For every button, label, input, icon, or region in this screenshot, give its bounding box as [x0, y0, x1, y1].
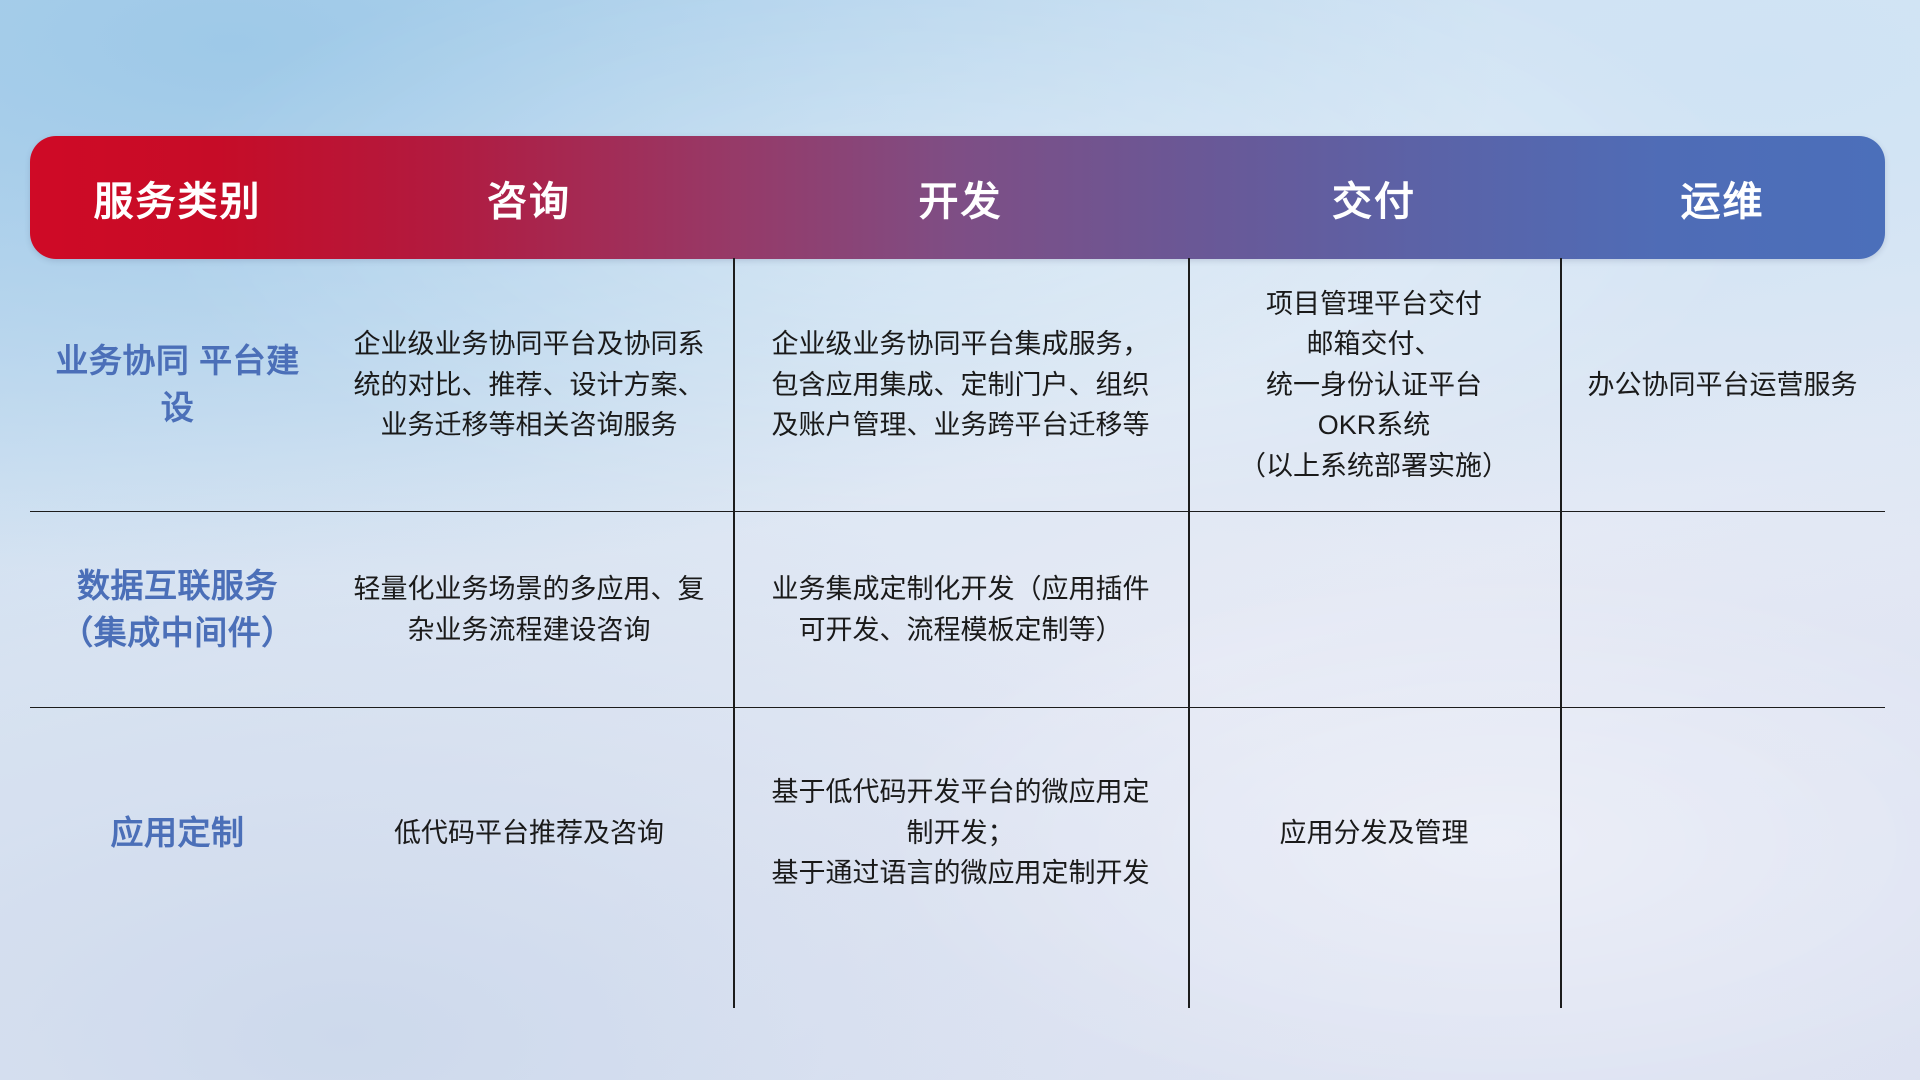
cell-text: 业务集成定制化开发（应用插件 可开发、流程模板定制等） [772, 569, 1150, 650]
header-cell-operations: 运维 [1560, 169, 1885, 227]
table-body: 业务协同 平台建设 企业级业务协同平台及协同系 统的对比、推荐、设计方案、 业务… [30, 259, 1885, 958]
table-row: 应用定制 低代码平台推荐及咨询 基于低代码开发平台的微应用定 制开发； 基于通过… [30, 708, 1885, 958]
table-row: 数据互联服务 （集成中间件） 轻量化业务场景的多应用、复 杂业务流程建设咨询 业… [30, 512, 1885, 708]
header-cell-development: 开发 [733, 169, 1188, 227]
category-label: 业务协同 平台建设 [44, 338, 311, 432]
cell-consulting: 轻量化业务场景的多应用、复 杂业务流程建设咨询 [325, 512, 733, 707]
cell-consulting: 企业级业务协同平台及协同系 统的对比、推荐、设计方案、 业务迁移等相关咨询服务 [325, 259, 733, 511]
cell-consulting: 低代码平台推荐及咨询 [325, 708, 733, 958]
cell-delivery [1188, 512, 1560, 707]
header-cell-consulting: 咨询 [325, 169, 733, 227]
header-cell-delivery: 交付 [1188, 169, 1560, 227]
service-matrix-table: 服务类别 咨询 开发 交付 运维 业务协同 平台建设 企业级业务协同平台及协同系… [30, 136, 1885, 958]
cell-text: 企业级业务协同平台集成服务， 包含应用集成、定制门户、组织 及账户管理、业务跨平… [772, 324, 1150, 446]
cell-category: 业务协同 平台建设 [30, 259, 325, 511]
cell-operations: 办公协同平台运营服务 [1560, 259, 1885, 511]
cell-development: 基于低代码开发平台的微应用定 制开发； 基于通过语言的微应用定制开发 [733, 708, 1188, 958]
cell-delivery: 应用分发及管理 [1188, 708, 1560, 958]
cell-operations [1560, 512, 1885, 707]
table-header-row: 服务类别 咨询 开发 交付 运维 [30, 136, 1885, 259]
cell-category: 数据互联服务 （集成中间件） [30, 512, 325, 707]
cell-text: 办公协同平台运营服务 [1588, 365, 1858, 406]
cell-text: 项目管理平台交付 邮箱交付、 统一身份认证平台 OKR系统 （以上系统部署实施） [1239, 284, 1509, 487]
cell-operations [1560, 708, 1885, 958]
cell-text: 轻量化业务场景的多应用、复 杂业务流程建设咨询 [354, 569, 705, 650]
category-label: 数据互联服务 （集成中间件） [44, 563, 311, 657]
table-row: 业务协同 平台建设 企业级业务协同平台及协同系 统的对比、推荐、设计方案、 业务… [30, 259, 1885, 512]
cell-category: 应用定制 [30, 708, 325, 958]
cell-text: 基于低代码开发平台的微应用定 制开发； 基于通过语言的微应用定制开发 [772, 772, 1150, 894]
cell-text: 应用分发及管理 [1280, 813, 1469, 854]
cell-development: 企业级业务协同平台集成服务， 包含应用集成、定制门户、组织 及账户管理、业务跨平… [733, 259, 1188, 511]
cell-delivery: 项目管理平台交付 邮箱交付、 统一身份认证平台 OKR系统 （以上系统部署实施） [1188, 259, 1560, 511]
header-cell-service-category: 服务类别 [30, 169, 325, 227]
category-label: 应用定制 [111, 810, 245, 857]
cell-text: 企业级业务协同平台及协同系 统的对比、推荐、设计方案、 业务迁移等相关咨询服务 [354, 324, 705, 446]
cell-development: 业务集成定制化开发（应用插件 可开发、流程模板定制等） [733, 512, 1188, 707]
cell-text: 低代码平台推荐及咨询 [394, 813, 664, 854]
